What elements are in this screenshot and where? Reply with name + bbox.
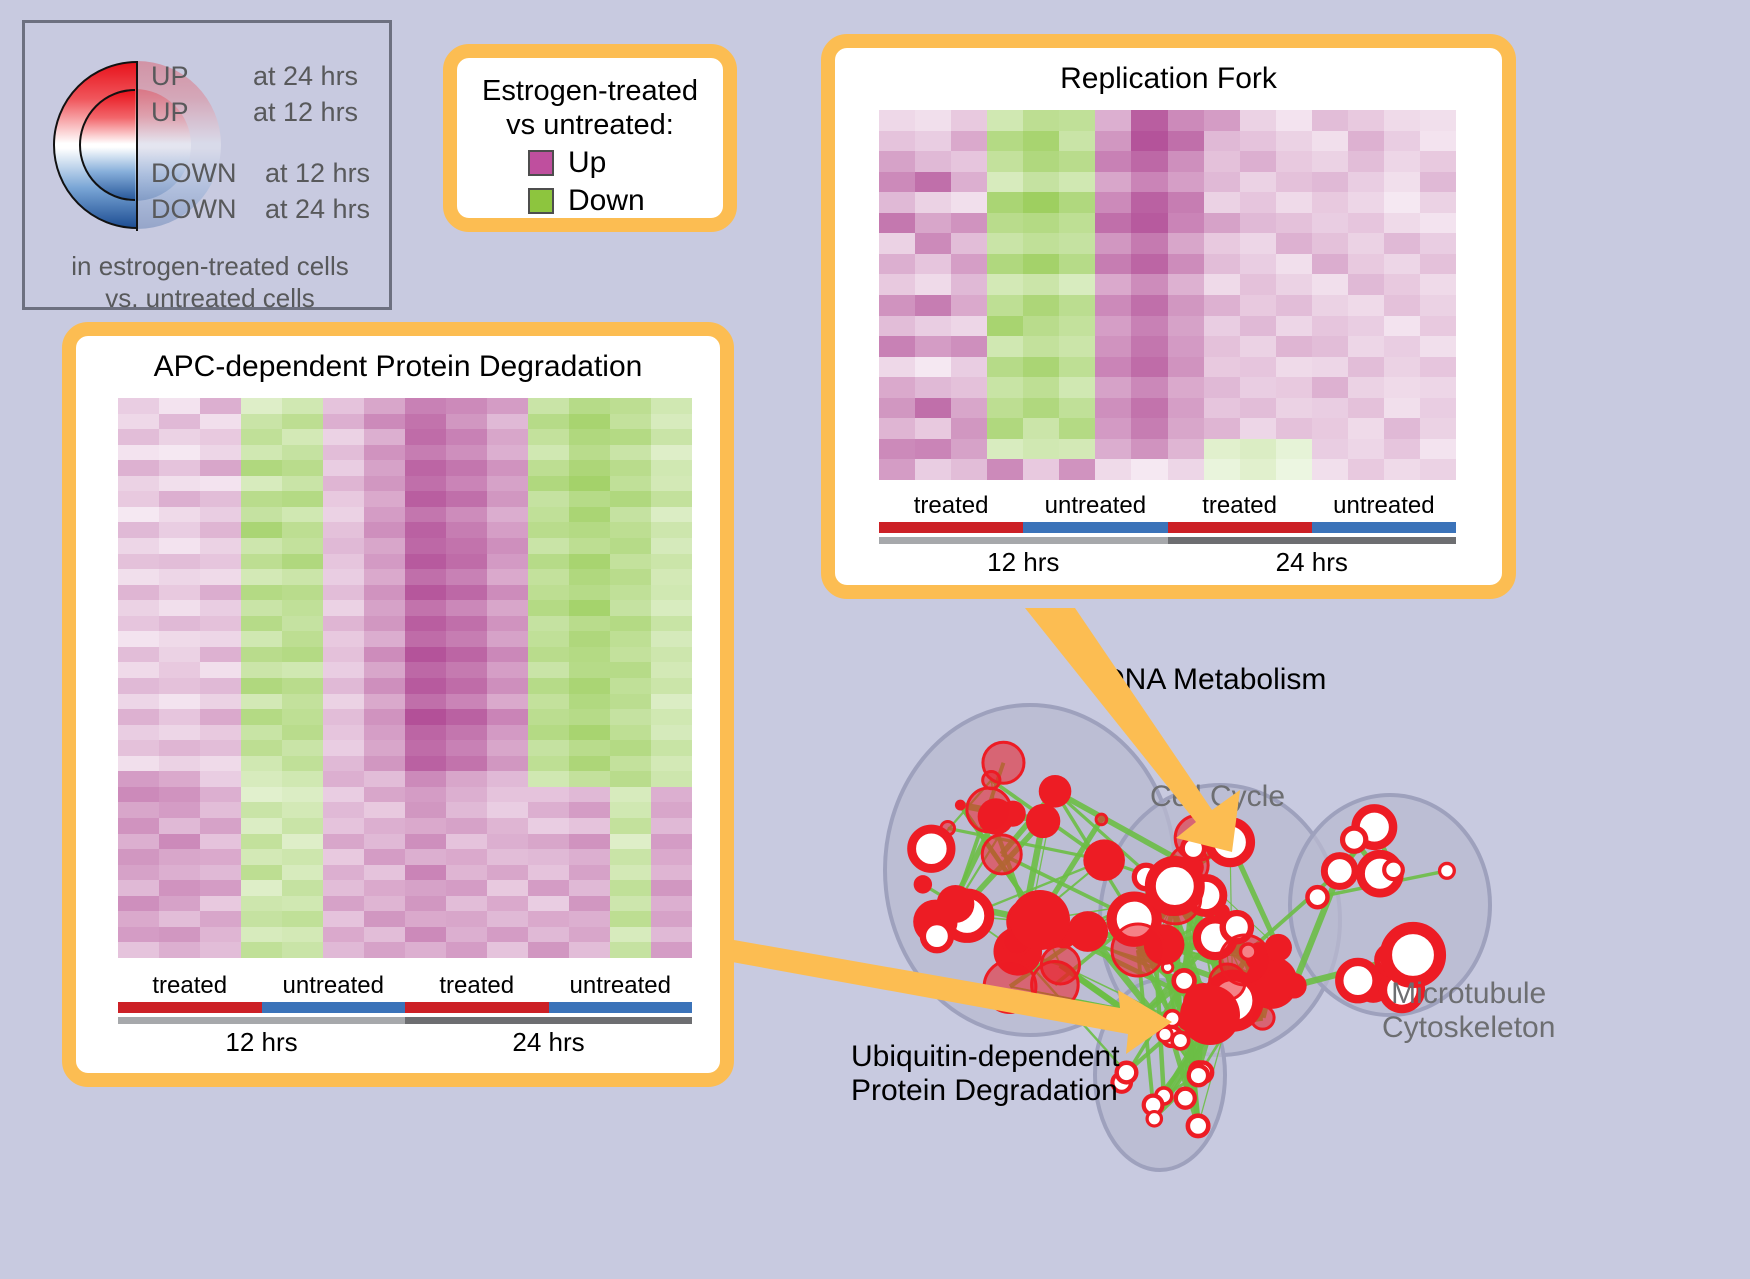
heatmap-cell: [569, 818, 610, 834]
heatmap-cell: [1348, 172, 1384, 193]
heatmap-cell: [323, 398, 364, 414]
heatmap-cell: [446, 569, 487, 585]
heatmap-cell: [323, 927, 364, 943]
group-colour-bar: [879, 522, 1023, 533]
heatmap-cell: [200, 538, 241, 554]
heatmap-cell: [1420, 213, 1456, 234]
heatmap-cell: [1420, 233, 1456, 254]
heatmap-cell: [528, 445, 569, 461]
heatmap-cell: [1420, 172, 1456, 193]
heatmap-cell: [282, 460, 323, 476]
heatmap-cell: [1131, 192, 1167, 213]
heatmap-cell: [1348, 418, 1384, 439]
heatmap-cell: [487, 740, 528, 756]
heatmap-cell: [1240, 336, 1276, 357]
heatmap-cell: [446, 460, 487, 476]
heatmap-cell: [1276, 357, 1312, 378]
heatmap-cell: [1131, 295, 1167, 316]
heatmap-cell: [241, 398, 282, 414]
heatmap-cell: [1023, 357, 1059, 378]
heatmap-cell: [118, 911, 159, 927]
heatmap-cell: [364, 585, 405, 601]
apc-time-labels: 12 hrs24 hrs: [118, 1027, 692, 1058]
heatmap-cell: [159, 647, 200, 663]
heatmap-cell: [282, 631, 323, 647]
heatmap-cell: [282, 445, 323, 461]
heatmap-cell: [569, 647, 610, 663]
heatmap-cell: [241, 507, 282, 523]
heatmap-cell: [118, 725, 159, 741]
heatmap-cell: [282, 491, 323, 507]
heatmap-cell: [1023, 254, 1059, 275]
heatmap-cell: [1095, 151, 1131, 172]
heatmap-cell: [118, 445, 159, 461]
heatmap-cell: [915, 233, 951, 254]
heatmap-cell: [159, 942, 200, 958]
heatmap-cell: [1312, 418, 1348, 439]
heatmap-cell: [282, 554, 323, 570]
heatmap-cell: [200, 709, 241, 725]
up-swatch-icon: [528, 150, 554, 176]
time-label: 12 hrs: [879, 547, 1168, 578]
heatmap-cell: [1348, 357, 1384, 378]
heatmap-cell: [118, 740, 159, 756]
heatmap-cell: [405, 600, 446, 616]
legend-label-down: Down: [568, 184, 652, 218]
heatmap-cell: [118, 880, 159, 896]
heatmap-cell: [569, 787, 610, 803]
heatmap-cell: [1095, 398, 1131, 419]
heatmap-cell: [241, 802, 282, 818]
heatmap-cell: [528, 398, 569, 414]
heatmap-cell: [1168, 213, 1204, 234]
heatmap-cell: [1420, 151, 1456, 172]
heatmap-cell: [118, 491, 159, 507]
heatmap-cell: [528, 756, 569, 772]
heatmap-cell: [487, 849, 528, 865]
heatmap-cell: [323, 678, 364, 694]
heatmap-cell: [1059, 233, 1095, 254]
legend-title: Estrogen-treated vs untreated:: [457, 74, 723, 142]
heatmap-cell: [446, 818, 487, 834]
heatmap-cell: [405, 756, 446, 772]
heatmap-cell: [323, 491, 364, 507]
heatmap-cell: [282, 507, 323, 523]
heatmap-cell: [241, 414, 282, 430]
heatmap-cell: [1023, 377, 1059, 398]
heatmap-cell: [1059, 254, 1095, 275]
heatmap-cell: [651, 476, 692, 492]
heatmap-cell: [1240, 172, 1276, 193]
heatmap-cell: [610, 756, 651, 772]
heatmap-cell: [487, 709, 528, 725]
heatmap-cell: [1276, 151, 1312, 172]
heatmap-cell: [118, 662, 159, 678]
heatmap-cell: [651, 569, 692, 585]
heatmap-cell: [1131, 316, 1167, 337]
heatmap-cell: [1348, 192, 1384, 213]
estrogen-legend-panel: Estrogen-treated vs untreated: Up Down: [443, 44, 737, 232]
heatmap-cell: [364, 647, 405, 663]
heatmap-cell: [446, 678, 487, 694]
heatmap-cell: [879, 274, 915, 295]
heatmap-cell: [528, 507, 569, 523]
heatmap-cell: [1384, 295, 1420, 316]
heatmap-cell: [282, 849, 323, 865]
heatmap-cell: [159, 896, 200, 912]
heatmap-cell: [405, 507, 446, 523]
heatmap-cell: [879, 192, 915, 213]
heatmap-cell: [1348, 439, 1384, 460]
heatmap-cell: [569, 538, 610, 554]
heatmap-cell: [282, 569, 323, 585]
heatmap-cell: [951, 316, 987, 337]
heatmap-cell: [1348, 336, 1384, 357]
heatmap-cell: [915, 439, 951, 460]
heatmap-cell: [1204, 398, 1240, 419]
heatmap-cell: [323, 460, 364, 476]
heatmap-cell: [1168, 131, 1204, 152]
heatmap-cell: [1276, 418, 1312, 439]
heatmap-cell: [610, 460, 651, 476]
group-label: treated: [879, 492, 1023, 520]
heatmap-cell: [528, 849, 569, 865]
heatmap-cell: [610, 896, 651, 912]
heatmap-cell: [446, 802, 487, 818]
heatmap-cell: [282, 740, 323, 756]
heatmap-cell: [528, 460, 569, 476]
heatmap-cell: [323, 896, 364, 912]
heatmap-cell: [610, 616, 651, 632]
group-colour-bar: [262, 1002, 406, 1013]
heatmap-cell: [1276, 316, 1312, 337]
heatmap-cell: [1059, 213, 1095, 234]
heatmap-cell: [987, 274, 1023, 295]
heatmap-cell: [241, 445, 282, 461]
heatmap-cell: [487, 896, 528, 912]
heatmap-cell: [405, 849, 446, 865]
heatmap-cell: [487, 522, 528, 538]
heatmap-cell: [1384, 233, 1420, 254]
heatmap-cell: [405, 771, 446, 787]
heatmap-cell: [1240, 213, 1276, 234]
time-label: 24 hrs: [405, 1027, 692, 1058]
heatmap-cell: [364, 398, 405, 414]
heatmap-cell: [651, 896, 692, 912]
heatmap-cell: [1168, 418, 1204, 439]
heatmap-cell: [446, 445, 487, 461]
heatmap-cell: [1131, 336, 1167, 357]
heatmap-cell: [118, 429, 159, 445]
heatmap-cell: [241, 942, 282, 958]
wheel-footer-line1: in estrogen-treated cells: [25, 251, 395, 283]
heatmap-cell: [1059, 418, 1095, 439]
heatmap-cell: [241, 585, 282, 601]
heatmap-cell: [159, 554, 200, 570]
heatmap-cell: [1023, 398, 1059, 419]
heatmap-cell: [405, 647, 446, 663]
heatmap-cell: [200, 476, 241, 492]
heatmap-cell: [1312, 336, 1348, 357]
heatmap-cell: [528, 787, 569, 803]
heatmap-cell: [987, 172, 1023, 193]
wheel-label-up-12: UP: [151, 97, 189, 128]
heatmap-cell: [405, 709, 446, 725]
heatmap-cell: [951, 192, 987, 213]
heatmap-cell: [200, 414, 241, 430]
heatmap-cell: [1059, 131, 1095, 152]
heatmap-cell: [1204, 151, 1240, 172]
heatmap-cell: [118, 600, 159, 616]
heatmap-cell: [879, 459, 915, 480]
heatmap-cell: [879, 254, 915, 275]
heatmap-cell: [1204, 357, 1240, 378]
heatmap-cell: [610, 927, 651, 943]
heatmap-cell: [528, 631, 569, 647]
heatmap-cell: [487, 942, 528, 958]
heatmap-cell: [528, 694, 569, 710]
heatmap-cell: [951, 274, 987, 295]
heatmap-cell: [1240, 274, 1276, 295]
heatmap-cell: [1059, 377, 1095, 398]
heatmap-cell: [405, 569, 446, 585]
heatmap-cell: [1168, 172, 1204, 193]
heatmap-cell: [405, 740, 446, 756]
heatmap-cell: [1276, 295, 1312, 316]
heatmap-cell: [1384, 336, 1420, 357]
heatmap-cell: [987, 233, 1023, 254]
heatmap-cell: [879, 131, 915, 152]
wheel-label-up-24: UP: [151, 61, 189, 92]
down-swatch-icon: [528, 188, 554, 214]
heatmap-cell: [528, 818, 569, 834]
heatmap-cell: [1131, 398, 1167, 419]
heatmap-cell: [1168, 274, 1204, 295]
heatmap-cell: [1204, 110, 1240, 131]
heatmap-cell: [1023, 110, 1059, 131]
heatmap-cell: [1240, 192, 1276, 213]
heatmap-cell: [915, 254, 951, 275]
heatmap-cell: [1240, 377, 1276, 398]
wheel-label-down-12: DOWN: [151, 158, 236, 189]
heatmap-cell: [1059, 172, 1095, 193]
heatmap-cell: [159, 662, 200, 678]
heatmap-cell: [364, 491, 405, 507]
heatmap-cell: [569, 616, 610, 632]
heatmap-cell: [446, 600, 487, 616]
heatmap-cell: [282, 880, 323, 896]
cluster-label-microtubule-cytoskeleton: Microtubule Cytoskeleton: [1382, 977, 1555, 1045]
heatmap-cell: [1204, 459, 1240, 480]
heatmap-cell: [1023, 439, 1059, 460]
heatmap-cell: [200, 787, 241, 803]
heatmap-cell: [1059, 398, 1095, 419]
heatmap-cell: [987, 398, 1023, 419]
heatmap-cell: [364, 554, 405, 570]
heatmap-cell: [1240, 459, 1276, 480]
heatmap-cell: [1420, 254, 1456, 275]
heatmap-cell: [651, 600, 692, 616]
heatmap-cell: [241, 834, 282, 850]
heatmap-cell: [1312, 110, 1348, 131]
heatmap-cell: [528, 725, 569, 741]
group-label: untreated: [1023, 492, 1167, 520]
heatmap-cell: [159, 445, 200, 461]
heatmap-cell: [364, 569, 405, 585]
heatmap-cell: [987, 418, 1023, 439]
heatmap-cell: [241, 896, 282, 912]
heatmap-cell: [200, 445, 241, 461]
wheel-legend-footer: in estrogen-treated cells vs. untreated …: [25, 251, 395, 314]
heatmap-cell: [651, 880, 692, 896]
heatmap-cell: [487, 460, 528, 476]
heatmap-cell: [1420, 459, 1456, 480]
heatmap-cell: [446, 616, 487, 632]
heatmap-cell: [1204, 131, 1240, 152]
heatmap-cell: [118, 631, 159, 647]
heatmap-cell: [951, 110, 987, 131]
heatmap-cell: [1204, 316, 1240, 337]
heatmap-cell: [528, 709, 569, 725]
group-colour-bar: [118, 1002, 262, 1013]
heatmap-cell: [1276, 213, 1312, 234]
heatmap-cell: [159, 880, 200, 896]
heatmap-cell: [915, 357, 951, 378]
wheel-time-up-12: at 12 hrs: [253, 97, 358, 128]
heatmap-cell: [1348, 110, 1384, 131]
heatmap-cell: [118, 460, 159, 476]
heatmap-cell: [610, 507, 651, 523]
heatmap-cell: [651, 662, 692, 678]
legend-title-line1: Estrogen-treated: [457, 74, 723, 108]
heatmap-cell: [1095, 459, 1131, 480]
heatmap-cell: [1240, 316, 1276, 337]
heatmap-cell: [405, 460, 446, 476]
heatmap-cell: [569, 507, 610, 523]
heatmap-cell: [323, 802, 364, 818]
heatmap-cell: [282, 896, 323, 912]
heatmap-cell: [915, 295, 951, 316]
legend-label-up: Up: [568, 146, 652, 180]
heatmap-cell: [159, 398, 200, 414]
heatmap-cell: [528, 942, 569, 958]
heatmap-cell: [610, 802, 651, 818]
heatmap-cell: [405, 445, 446, 461]
heatmap-cell: [200, 522, 241, 538]
heatmap-cell: [1168, 357, 1204, 378]
heatmap-cell: [118, 865, 159, 881]
heatmap-cell: [118, 927, 159, 943]
heatmap-cell: [651, 911, 692, 927]
heatmap-cell: [241, 911, 282, 927]
heatmap-cell: [118, 802, 159, 818]
heatmap-cell: [1131, 254, 1167, 275]
heatmap-cell: [405, 694, 446, 710]
heatmap-cell: [405, 554, 446, 570]
heatmap-cell: [1384, 172, 1420, 193]
heatmap-cell: [405, 429, 446, 445]
heatmap-cell: [241, 662, 282, 678]
group-colour-bar: [1312, 522, 1456, 533]
heatmap-cell: [118, 787, 159, 803]
heatmap-cell: [879, 295, 915, 316]
heatmap-cell: [323, 771, 364, 787]
heatmap-cell: [487, 445, 528, 461]
heatmap-cell: [1168, 151, 1204, 172]
heatmap-cell: [487, 476, 528, 492]
heatmap-cell: [446, 787, 487, 803]
heatmap-cell: [364, 678, 405, 694]
heatmap-cell: [364, 756, 405, 772]
heatmap-cell: [1023, 459, 1059, 480]
heatmap-cell: [651, 818, 692, 834]
heatmap-cell: [1023, 336, 1059, 357]
heatmap-cell: [1023, 172, 1059, 193]
heatmap-cell: [200, 600, 241, 616]
heatmap-cell: [569, 491, 610, 507]
heatmap-cell: [915, 192, 951, 213]
heatmap-cell: [323, 631, 364, 647]
heatmap-cell: [405, 818, 446, 834]
heatmap-cell: [1023, 192, 1059, 213]
heatmap-cell: [1384, 377, 1420, 398]
heatmap-cell: [487, 491, 528, 507]
heatmap-cell: [1384, 459, 1420, 480]
heatmap-cell: [487, 911, 528, 927]
heatmap-cell: [200, 725, 241, 741]
heatmap-cell: [915, 316, 951, 337]
heatmap-cell: [405, 927, 446, 943]
heatmap-cell: [651, 491, 692, 507]
heatmap-cell: [241, 460, 282, 476]
heatmap-cell: [915, 131, 951, 152]
heatmap-cell: [159, 740, 200, 756]
heatmap-cell: [1312, 295, 1348, 316]
heatmap-cell: [364, 507, 405, 523]
heatmap-cell: [487, 398, 528, 414]
heatmap-cell: [1420, 418, 1456, 439]
heatmap-cell: [951, 357, 987, 378]
heatmap-cell: [528, 865, 569, 881]
heatmap-cell: [528, 911, 569, 927]
heatmap-cell: [446, 631, 487, 647]
heatmap-cell: [118, 834, 159, 850]
heatmap-cell: [1348, 316, 1384, 337]
heatmap-cell: [915, 398, 951, 419]
heatmap-cell: [569, 631, 610, 647]
heatmap-cell: [159, 522, 200, 538]
heatmap-cell: [1059, 274, 1095, 295]
heatmap-cell: [1168, 316, 1204, 337]
heatmap-cell: [200, 880, 241, 896]
heatmap-cell: [987, 151, 1023, 172]
heatmap-cell: [487, 414, 528, 430]
heatmap-cell: [951, 254, 987, 275]
heatmap-cell: [364, 414, 405, 430]
heatmap-cell: [323, 942, 364, 958]
legend-row-down: Down: [457, 184, 723, 218]
heatmap-cell: [1384, 439, 1420, 460]
heatmap-cell: [1276, 110, 1312, 131]
replication-fork-time-labels: 12 hrs24 hrs: [879, 547, 1456, 578]
heatmap-cell: [651, 678, 692, 694]
heatmap-cell: [200, 756, 241, 772]
heatmap-cell: [1131, 357, 1167, 378]
heatmap-cell: [651, 429, 692, 445]
heatmap-cell: [405, 787, 446, 803]
heatmap-cell: [241, 865, 282, 881]
heatmap-cell: [200, 865, 241, 881]
